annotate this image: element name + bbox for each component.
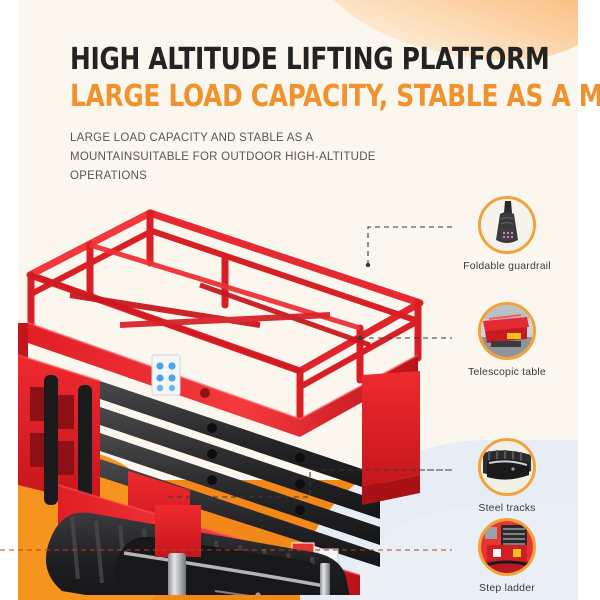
callout-label: Steel tracks bbox=[452, 502, 562, 514]
callout-label: Telescopic table bbox=[452, 366, 562, 378]
callout-foldable-guardrail[interactable]: Foldable guardrail bbox=[452, 196, 562, 272]
leader-outrigger bbox=[168, 470, 452, 497]
product-poster: HIGH ALTITUDE LIFTING PLATFORM LARGE LOA… bbox=[0, 0, 600, 600]
telescopic-table-icon bbox=[478, 302, 536, 360]
page-description: LARGE LOAD CAPACITY AND STABLE AS A MOUN… bbox=[70, 129, 430, 186]
leader-dot-guardrail bbox=[366, 263, 370, 267]
page-subtitle: LARGE LOAD CAPACITY, STABLE AS A MOUNTAI… bbox=[70, 81, 600, 113]
step-ladder-icon bbox=[478, 518, 536, 576]
callout-step-ladder[interactable]: Step ladder bbox=[452, 518, 562, 594]
callout-label: Step ladder bbox=[452, 582, 562, 594]
steel-tracks-icon bbox=[478, 438, 536, 496]
heading-block: HIGH ALTITUDE LIFTING PLATFORM LARGE LOA… bbox=[70, 44, 600, 186]
page-title: HIGH ALTITUDE LIFTING PLATFORM bbox=[70, 44, 600, 76]
leader-dot-table bbox=[358, 336, 362, 340]
leader-guardrail bbox=[368, 227, 452, 265]
callout-telescopic-table[interactable]: Telescopic table bbox=[452, 302, 562, 378]
foldable-guardrail-icon bbox=[478, 196, 536, 254]
callout-steel-tracks[interactable]: Steel tracks bbox=[452, 438, 562, 514]
callout-label: Foldable guardrail bbox=[452, 260, 562, 272]
